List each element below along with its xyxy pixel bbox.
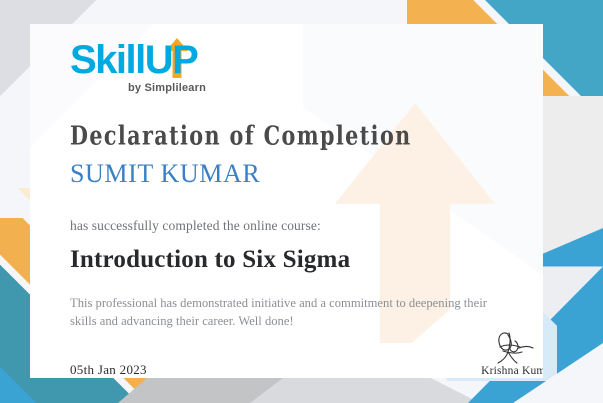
completion-subline: has successfully completed the online co… bbox=[70, 218, 510, 234]
certificate-body: Declaration of Completion SUMIT KUMAR ha… bbox=[70, 120, 510, 330]
skillup-logo: SkillUP by Simplilearn bbox=[70, 36, 270, 108]
recipient-name: SUMIT KUMAR bbox=[70, 158, 510, 190]
commendation-paragraph: This professional has demonstrated initi… bbox=[70, 294, 500, 330]
signature-block: Krishna Kumar CEO bbox=[468, 330, 543, 378]
certificate-heading: Declaration of Completion bbox=[70, 120, 510, 154]
signatory-name: Krishna Kumar bbox=[468, 365, 543, 377]
issue-date: 05th Jan 2023 bbox=[70, 362, 147, 378]
handwritten-signature-icon bbox=[478, 330, 543, 364]
course-title: Introduction to Six Sigma bbox=[70, 246, 510, 274]
certificate-card: SkillUP by Simplilearn Declaration of Co… bbox=[30, 24, 543, 378]
logo-wordmark-text: SkillUP bbox=[70, 38, 197, 82]
certificate-canvas: SkillUP by Simplilearn Declaration of Co… bbox=[0, 0, 603, 403]
logo-wordmark: SkillUP bbox=[70, 36, 270, 84]
